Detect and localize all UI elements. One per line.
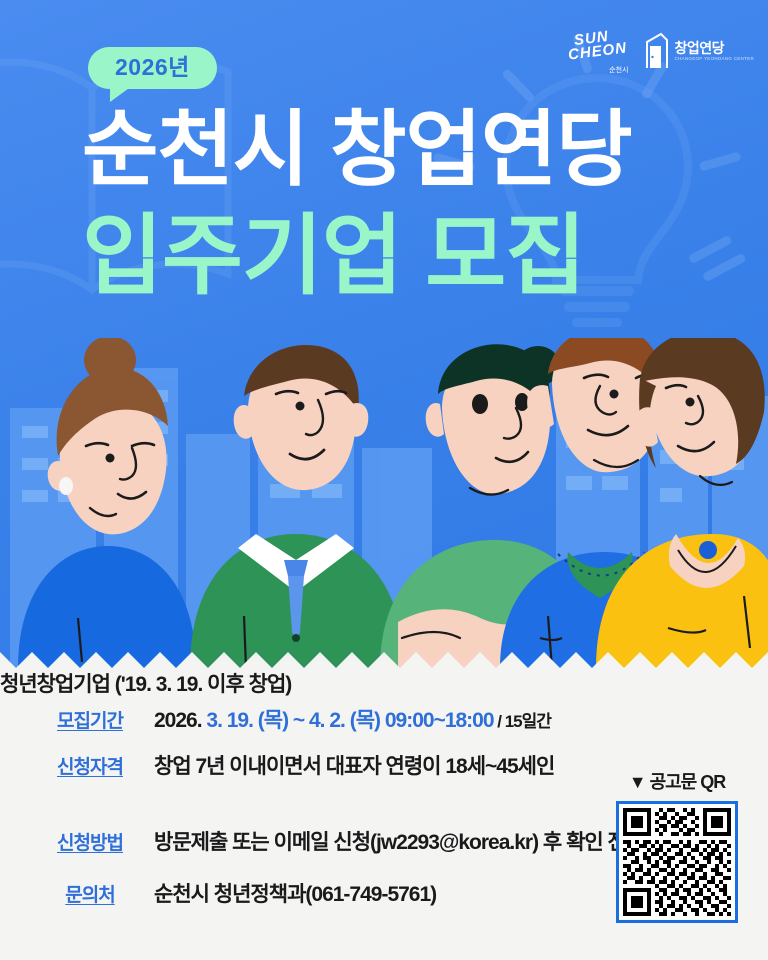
info-row-contact: 문의처 순천시 청년정책과(061-749-5761) xyxy=(44,880,436,910)
poster-root: 2026년 순천시 창업연당 입주기업 모집 SUN CHEON 순천시 창업연… xyxy=(0,0,768,960)
poster-title-line2: 입주기업 모집 xyxy=(82,212,585,300)
value-contact: 순천시 청년정책과(061-749-5761) xyxy=(154,880,436,910)
value-recruit-period: 2026. 3. 19. (목) ~ 4. 2. (목) 09:00~18:00… xyxy=(154,706,551,736)
recruit-period-dates: 3. 19. (목) ~ 4. 2. (목) 09:00~18:00 xyxy=(206,709,493,732)
poster-title-line1: 순천시 창업연당 xyxy=(82,108,632,191)
info-row-eligibility: 신청자격 창업 7년 이내이면서 대표자 연령이 18세~45세인 xyxy=(44,752,554,782)
info-section: 모집기간 2026. 3. 19. (목) ~ 4. 2. (목) 09:00~… xyxy=(0,668,768,960)
suncheon-city-logo: SUN CHEON 순천시 xyxy=(568,28,630,74)
label-apply-method: 신청방법 xyxy=(44,828,136,855)
value-apply-method: 방문제출 또는 이메일 신청(jw2293@korea.kr) 후 확인 전화 xyxy=(154,828,644,858)
eligibility-line2-main: 청년창업기업 xyxy=(0,673,110,696)
logo-group: SUN CHEON 순천시 창업연당 CHANGEOP YEONDANG CEN… xyxy=(568,28,754,74)
info-row-recruit-period: 모집기간 2026. 3. 19. (목) ~ 4. 2. (목) 09:00~… xyxy=(44,706,551,736)
info-row-apply-method: 신청방법 방문제출 또는 이메일 신청(jw2293@korea.kr) 후 확… xyxy=(44,828,644,858)
label-recruit-period: 모집기간 xyxy=(44,706,136,733)
city-skyline-decor xyxy=(0,338,768,668)
recruit-period-suffix: / 15일간 xyxy=(494,712,551,731)
qr-block: ▼ 공고문 QR xyxy=(616,768,738,923)
zigzag-divider xyxy=(0,642,768,668)
changeop-logo-name: 창업연당 xyxy=(674,41,754,56)
value-eligibility-line1: 창업 7년 이내이면서 대표자 연령이 18세~45세인 xyxy=(154,752,554,782)
suncheon-logo-sub: 순천시 xyxy=(609,65,628,75)
eligibility-line2-note: ('19. 3. 19. 이후 창업) xyxy=(115,673,292,696)
hero-section: 2026년 순천시 창업연당 입주기업 모집 SUN CHEON 순천시 창업연… xyxy=(0,0,768,668)
changeop-yeondang-logo: 창업연당 CHANGEOP YEONDANG CENTER xyxy=(644,32,754,70)
year-badge-label: 2026년 xyxy=(88,47,217,89)
label-eligibility: 신청자격 xyxy=(44,752,136,779)
building-icon xyxy=(644,32,670,70)
changeop-logo-sub: CHANGEOP YEONDANG CENTER xyxy=(674,56,754,61)
qr-code-image[interactable] xyxy=(616,801,738,923)
label-contact: 문의처 xyxy=(44,880,136,907)
recruit-period-prefix: 2026. xyxy=(154,709,206,732)
value-eligibility-line2: 청년창업기업 ('19. 3. 19. 이후 창업) xyxy=(0,668,768,698)
badge-tail xyxy=(110,86,132,102)
year-badge: 2026년 xyxy=(88,47,217,89)
qr-label: ▼ 공고문 QR xyxy=(616,768,738,794)
